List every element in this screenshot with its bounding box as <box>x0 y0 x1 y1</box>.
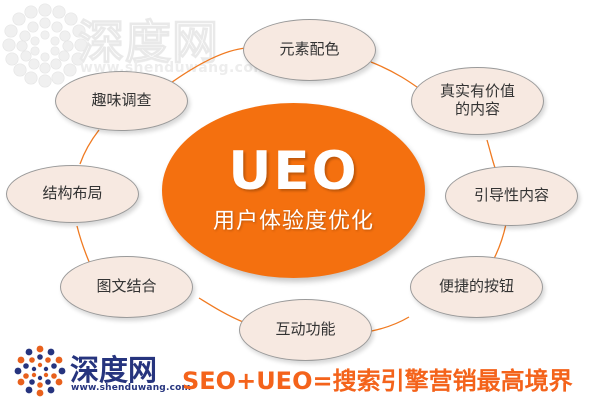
node-valuable-content[interactable]: 真实有价值 的内容 <box>411 67 544 135</box>
node-interactive-feature[interactable]: 互动功能 <box>239 299 372 361</box>
brand-url: www.shenduwang.com <box>71 383 191 393</box>
node-element-color[interactable]: 元素配色 <box>243 19 376 81</box>
connector-interactive-feature-text-image-combo <box>199 298 243 322</box>
node-structure-layout-label: 结构布局 <box>42 185 102 203</box>
node-interactive-feature-label: 互动功能 <box>275 321 335 339</box>
center-subtitle: 用户体验度优化 <box>213 211 374 233</box>
node-structure-layout[interactable]: 结构布局 <box>6 165 139 223</box>
node-text-image-combo-label: 图文结合 <box>96 278 156 296</box>
brand-dot-ring-icon <box>14 345 66 397</box>
node-guiding-content[interactable]: 引导性内容 <box>445 166 578 226</box>
connector-fun-survey-element-color <box>168 48 246 85</box>
node-fun-survey-label: 趣味调查 <box>91 92 151 110</box>
brand-logo: 深度网 www.shenduwang.com <box>14 345 184 403</box>
node-convenient-button-label: 便捷的按钮 <box>439 278 514 296</box>
node-guiding-content-label: 引导性内容 <box>474 187 549 205</box>
center-node-ueo[interactable]: UEO 用户体验度优化 <box>162 103 425 278</box>
infographic-canvas: 深度网 www.shenduwang.com 元素配色 真实有价 <box>0 0 600 408</box>
connector-text-image-combo-structure-layout <box>77 226 90 264</box>
node-text-image-combo[interactable]: 图文结合 <box>60 256 193 318</box>
node-fun-survey[interactable]: 趣味调查 <box>55 71 188 131</box>
center-title: UEO <box>228 145 358 198</box>
node-valuable-content-label-line2: 的内容 <box>440 101 515 119</box>
node-convenient-button[interactable]: 便捷的按钮 <box>410 256 543 318</box>
connector-structure-layout-fun-survey <box>80 130 99 164</box>
tagline: SEO+UEO=搜索引擎营销最高境界 <box>182 361 573 396</box>
node-valuable-content-label-line1: 真实有价值 <box>440 83 515 101</box>
node-element-color-label: 元素配色 <box>279 41 339 59</box>
